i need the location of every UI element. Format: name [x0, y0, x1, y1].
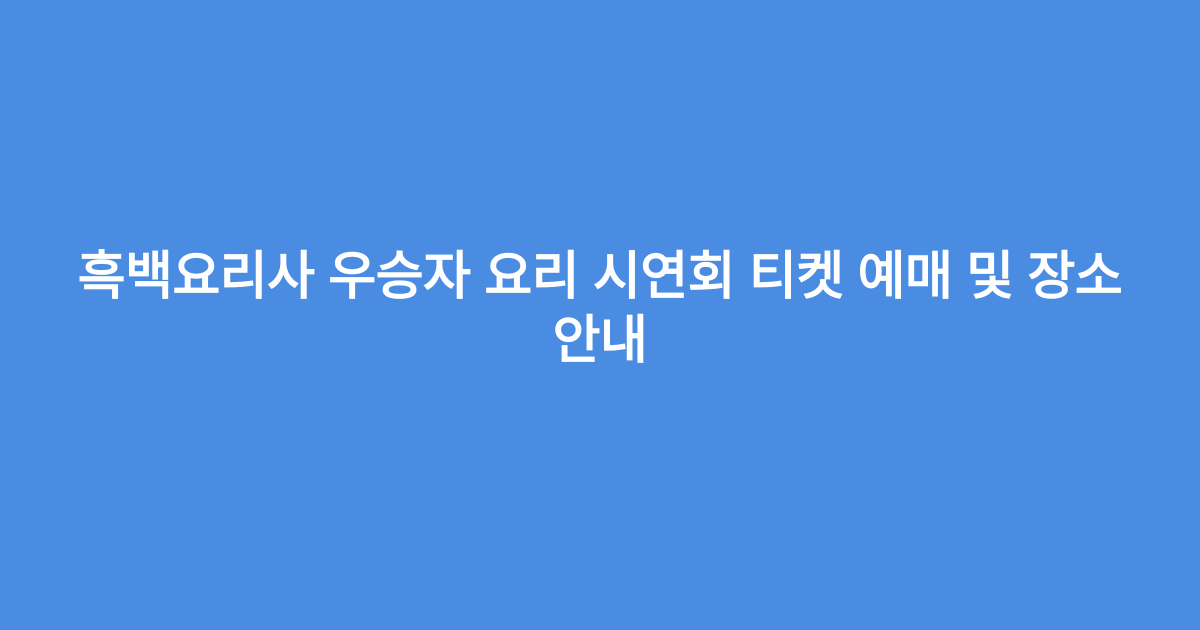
og-share-card: 흑백요리사 우승자 요리 시연회 티켓 예매 및 장소 안내: [0, 0, 1200, 630]
page-title: 흑백요리사 우승자 요리 시연회 티켓 예매 및 장소 안내: [70, 245, 1130, 373]
